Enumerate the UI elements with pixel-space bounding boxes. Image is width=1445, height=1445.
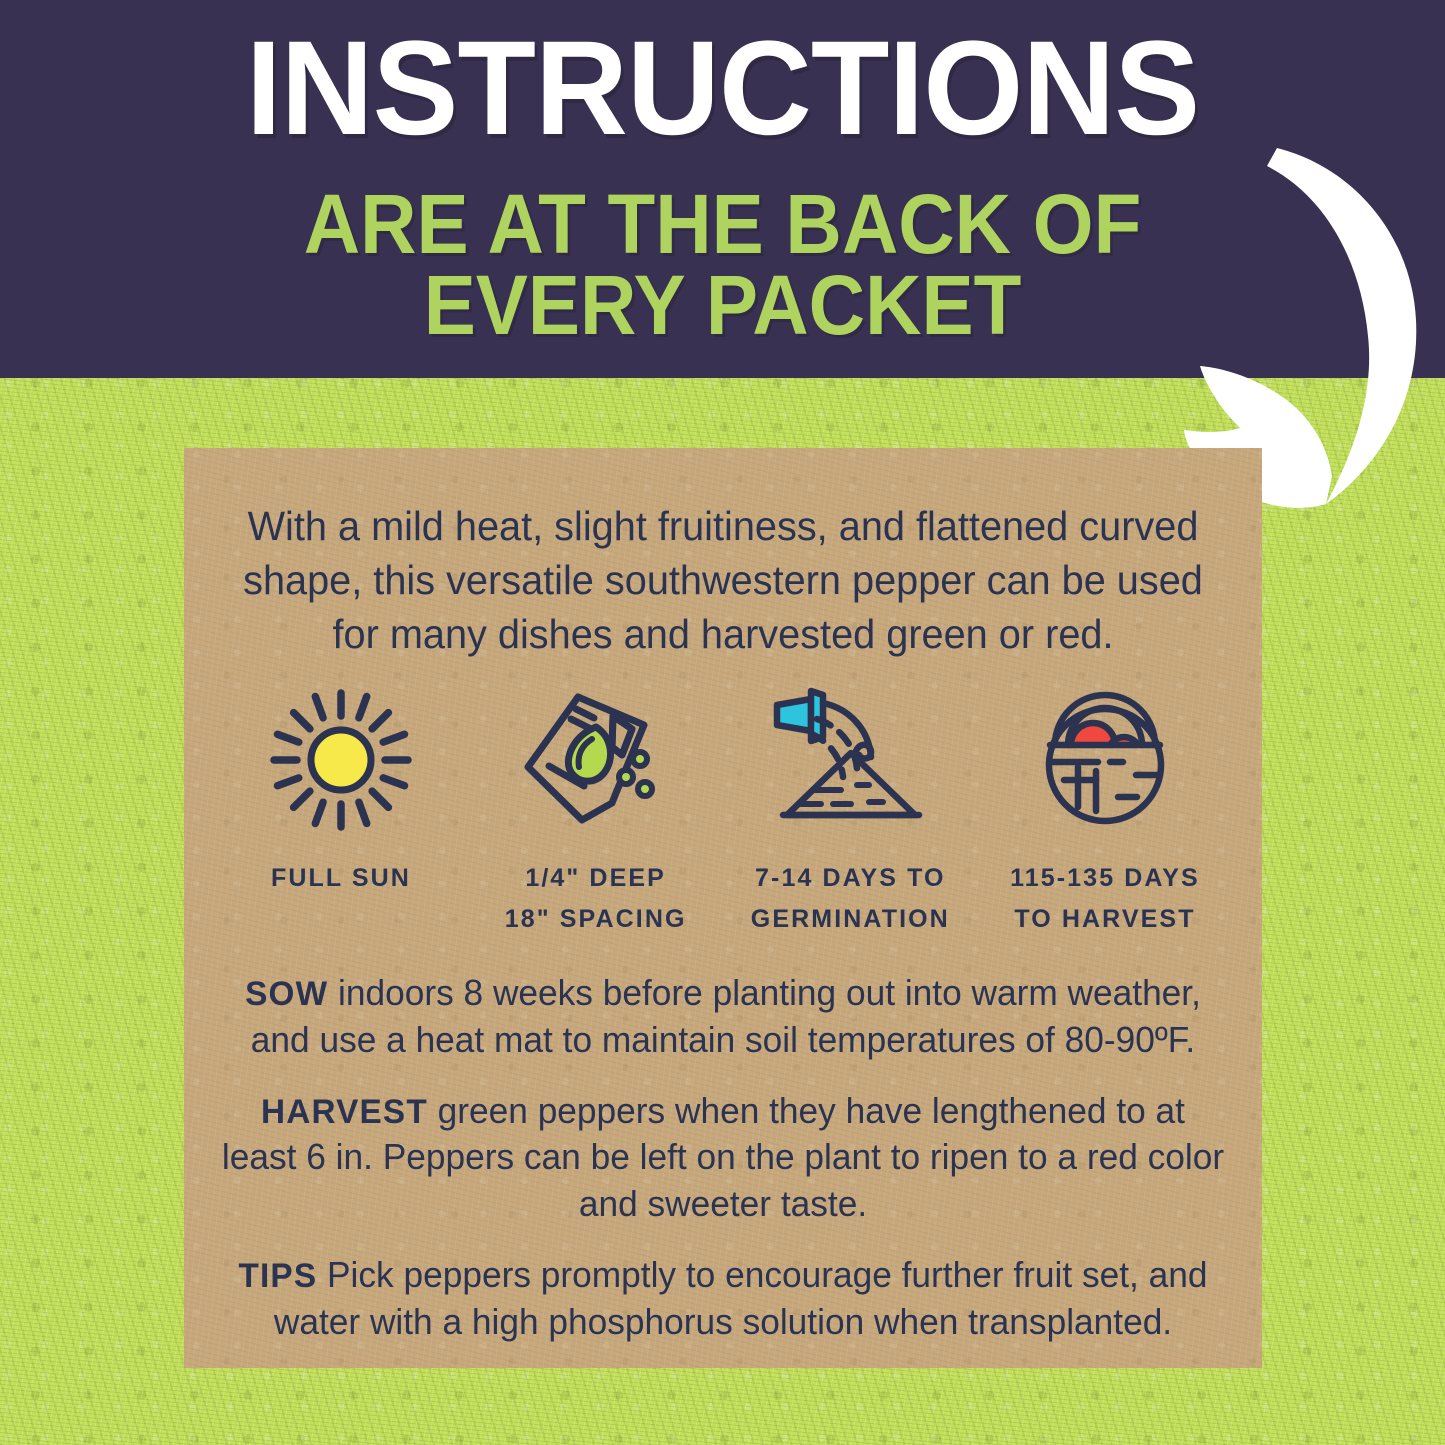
info-label-sowing-depth: 1/4" DEEP 18" SPACING	[505, 858, 687, 941]
instruction-paragraphs: SOW indoors 8 weeks before planting out …	[210, 970, 1236, 1346]
header-banner: INSTRUCTIONS ARE AT THE BACK OF EVERY PA…	[0, 0, 1445, 378]
info-label-full-sun: FULL SUN	[271, 858, 411, 899]
seed-packet-instructions-graphic: INSTRUCTIONS ARE AT THE BACK OF EVERY PA…	[0, 0, 1445, 1445]
banner-subtitle-line-2: EVERY PACKET	[51, 265, 1395, 346]
paragraph-tips-lede: TIPS	[238, 1257, 317, 1295]
paragraph-sow-lede: SOW	[245, 975, 328, 1013]
sun-icon	[266, 676, 416, 844]
info-cell-germination: 7-14 DAYS TO GERMINATION	[725, 676, 975, 941]
harvest-basket-icon	[1030, 676, 1180, 844]
info-cell-harvest: 115-135 DAYS TO HARVEST	[980, 676, 1230, 941]
paragraph-tips-text: Pick peppers promptly to encourage furth…	[274, 1254, 1208, 1342]
info-cell-sowing-depth: 1/4" DEEP 18" SPACING	[471, 676, 721, 941]
banner-title: INSTRUCTIONS	[29, 22, 1416, 156]
info-label-harvest: 115-135 DAYS TO HARVEST	[1010, 858, 1200, 941]
banner-subtitle-line-1: ARE AT THE BACK OF	[51, 184, 1395, 265]
growing-info-icon-row: FULL SUN	[216, 676, 1230, 941]
intro-paragraph: With a mild heat, slight fruitiness, and…	[220, 500, 1225, 662]
info-cell-full-sun: FULL SUN	[216, 676, 466, 899]
paragraph-sow: SOW indoors 8 weeks before planting out …	[220, 970, 1225, 1064]
seed-packet-icon	[516, 676, 676, 844]
paragraph-harvest: HARVEST green peppers when they have len…	[220, 1088, 1225, 1228]
watering-can-soil-mound-icon	[765, 676, 935, 844]
banner-subtitle: ARE AT THE BACK OF EVERY PACKET	[51, 184, 1395, 345]
paragraph-harvest-lede: HARVEST	[261, 1093, 428, 1131]
paragraph-sow-text: indoors 8 weeks before planting out into…	[251, 972, 1201, 1060]
kraft-instruction-card: With a mild heat, slight fruitiness, and…	[184, 448, 1262, 1368]
info-label-germination: 7-14 DAYS TO GERMINATION	[751, 858, 950, 941]
paragraph-tips: TIPS Pick peppers promptly to encourage …	[220, 1252, 1225, 1346]
